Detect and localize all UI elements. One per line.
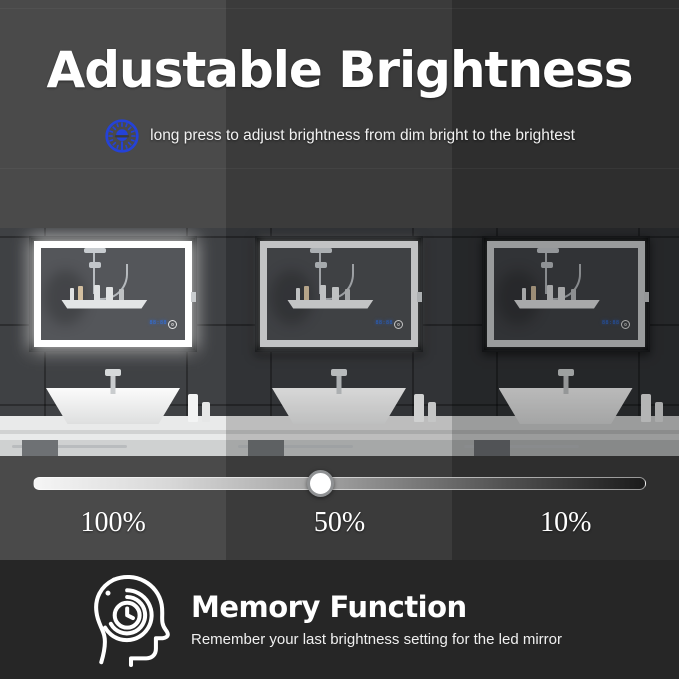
mirror-side-sensor — [417, 292, 422, 302]
memory-function-footer: Memory Function Remember your last brigh… — [0, 560, 679, 679]
brightness-slider-zone: 100% 50% 10% — [0, 456, 679, 560]
bottle — [202, 402, 210, 422]
brightness-label-100: 100% — [0, 506, 226, 540]
towel — [474, 440, 510, 456]
page-title: Adustable Brightness — [0, 42, 679, 98]
mirror-side-sensor — [644, 292, 649, 302]
infographic-page: Adustable Brightness — [0, 0, 679, 679]
mirror-scene-100: 88:88 — [0, 228, 226, 456]
brightness-slider[interactable] — [33, 477, 646, 490]
tile-seam — [0, 168, 679, 169]
brightness-label-row: 100% 50% 10% — [0, 506, 679, 540]
mirror-clock-display: 88:88 — [375, 320, 393, 326]
mirror-touch-button[interactable] — [394, 320, 403, 329]
led-mirror: 88:88 — [29, 236, 197, 352]
mirror-touch-button[interactable] — [621, 320, 630, 329]
slider-knob[interactable] — [307, 470, 334, 497]
mirror-glass: 88:88 — [267, 248, 411, 340]
mirror-scene-10: 88:88 — [452, 228, 679, 456]
mirror-scene-50: 88:88 — [226, 228, 452, 456]
towel — [22, 440, 58, 456]
mirror-scene-row: 88:88 — [0, 228, 679, 456]
memory-function-text: Memory Function Remember your last brigh… — [191, 590, 562, 650]
bottle — [414, 394, 424, 422]
mirror-glass: 88:88 — [41, 248, 185, 340]
memory-function-subtitle: Remember your last brightness setting fo… — [191, 630, 562, 650]
bottle — [655, 402, 663, 422]
led-mirror: 88:88 — [482, 236, 650, 352]
mirror-side-sensor — [191, 292, 196, 302]
memory-function-title: Memory Function — [191, 590, 562, 624]
bottle — [188, 394, 198, 422]
header-subline: long press to adjust brightness from dim… — [0, 118, 679, 154]
mirror-touch-button[interactable] — [168, 320, 177, 329]
brightness-label-50: 50% — [226, 506, 452, 540]
mirror-clock-display: 88:88 — [602, 320, 620, 326]
towel — [248, 440, 284, 456]
head-clock-memory-icon — [85, 572, 177, 668]
mirror-glass: 88:88 — [494, 248, 638, 340]
bottle — [428, 402, 436, 422]
bottle — [641, 394, 651, 422]
brightness-sun-icon — [104, 118, 140, 154]
header-subtitle: long press to adjust brightness from dim… — [150, 126, 575, 146]
header: Adustable Brightness — [0, 0, 679, 162]
brightness-label-10: 10% — [453, 506, 679, 540]
mirror-clock-display: 88:88 — [149, 320, 167, 326]
slider-track[interactable] — [33, 477, 646, 490]
led-mirror: 88:88 — [255, 236, 423, 352]
